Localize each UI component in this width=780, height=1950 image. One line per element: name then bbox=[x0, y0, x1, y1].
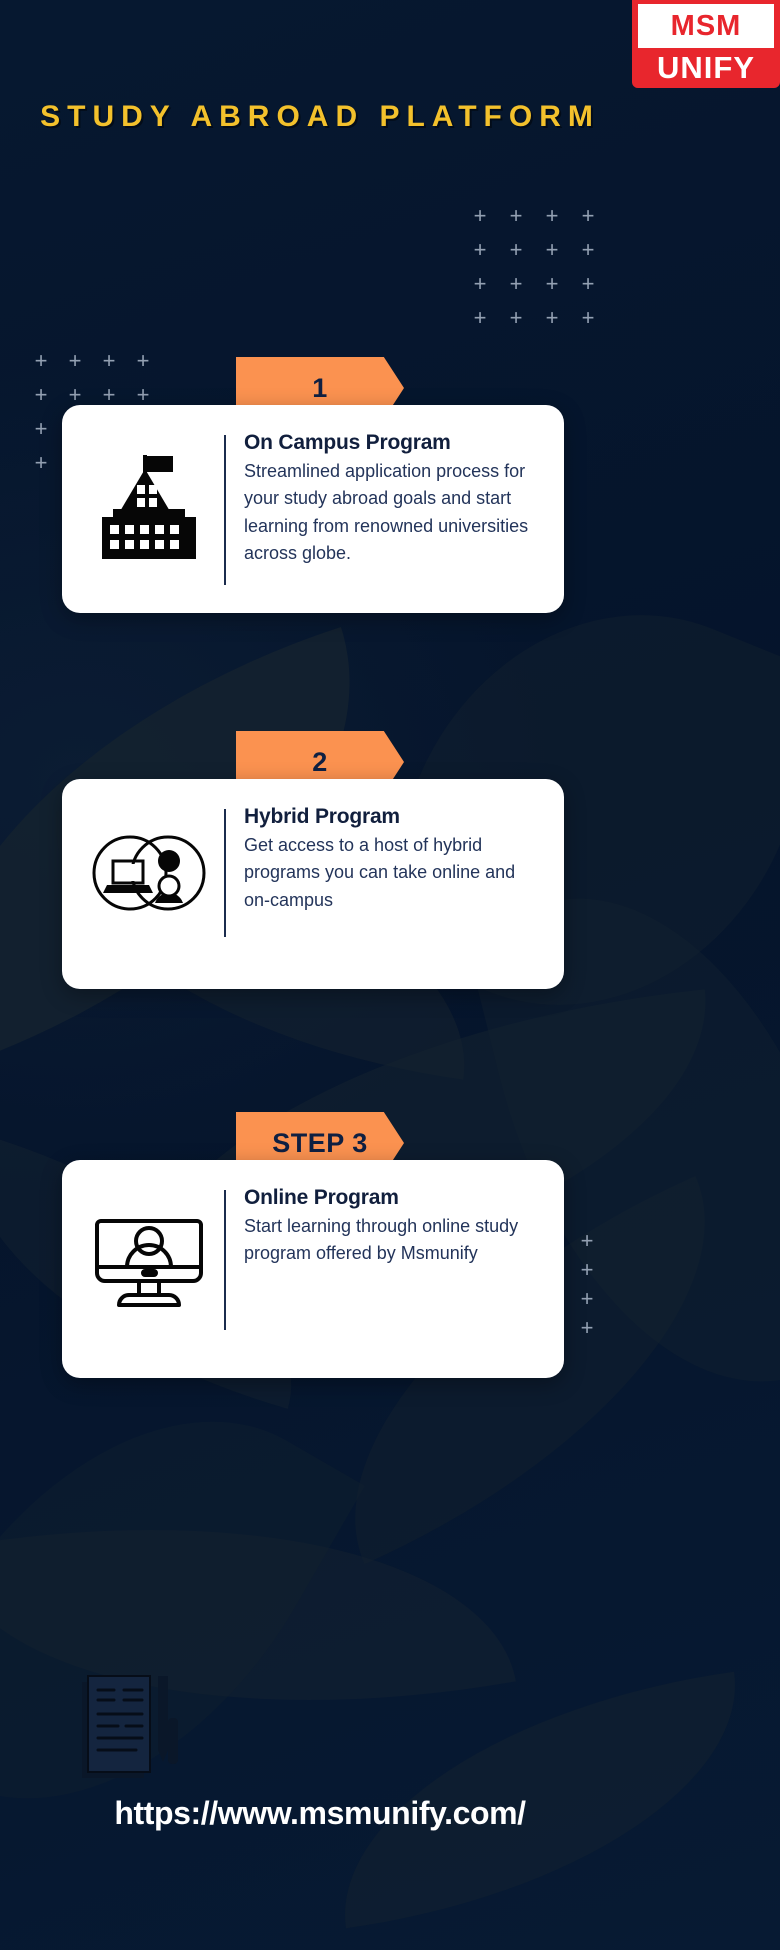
card-divider bbox=[224, 1190, 226, 1330]
plus-icon: + bbox=[570, 307, 606, 341]
msm-unify-logo[interactable]: MSM UNIFY bbox=[632, 0, 780, 88]
plus-icon: + bbox=[534, 307, 570, 341]
step-2-text: Hybrid Program Get access to a host of h… bbox=[244, 805, 542, 914]
step-card-2[interactable]: 2 Hybrid Program bbox=[62, 731, 564, 989]
step-1-description: Streamlined application process for your… bbox=[244, 458, 538, 567]
plus-icon: + bbox=[462, 205, 498, 239]
step-card-3-body: Online Program Start learning through on… bbox=[62, 1160, 564, 1378]
infographic-canvas: MSM UNIFY STUDY ABROAD PLATFORM + + + + … bbox=[0, 0, 780, 1950]
plus-icon: + bbox=[534, 239, 570, 273]
plus-icon: + bbox=[498, 307, 534, 341]
step-2-title: Hybrid Program bbox=[244, 805, 538, 829]
plus-icon: + bbox=[574, 1259, 600, 1288]
step-card-1-body: On Campus Program Streamlined applicatio… bbox=[62, 405, 564, 613]
step-3-description: Start learning through online study prog… bbox=[244, 1213, 538, 1268]
logo-unify-text: UNIFY bbox=[657, 48, 755, 88]
document-pen-icon bbox=[78, 1672, 188, 1795]
step-3-text: Online Program Start learning through on… bbox=[244, 1186, 542, 1268]
plus-icon: + bbox=[574, 1317, 600, 1346]
step-card-3[interactable]: STEP 3 Online Program Start learning thr… bbox=[62, 1112, 564, 1378]
plus-icon: + bbox=[498, 205, 534, 239]
plus-icon: + bbox=[462, 239, 498, 273]
plus-icon: + bbox=[462, 307, 498, 341]
plus-icon: + bbox=[24, 452, 58, 486]
plus-icon: + bbox=[574, 1230, 600, 1259]
step-card-2-body: Hybrid Program Get access to a host of h… bbox=[62, 779, 564, 989]
plus-icon: + bbox=[24, 350, 58, 384]
hybrid-venn-icon bbox=[74, 825, 224, 921]
plus-pattern-right-step3: + + + + bbox=[574, 1230, 600, 1346]
plus-icon: + bbox=[24, 384, 58, 418]
step-card-1[interactable]: 1 bbox=[62, 357, 564, 613]
step-1-title: On Campus Program bbox=[244, 431, 538, 455]
plus-icon: + bbox=[24, 418, 58, 452]
step-1-text: On Campus Program Streamlined applicatio… bbox=[244, 431, 542, 567]
page-title: STUDY ABROAD PLATFORM bbox=[0, 100, 640, 134]
website-url[interactable]: https://www.msmunify.com/ bbox=[0, 1795, 640, 1832]
step-2-description: Get access to a host of hybrid programs … bbox=[244, 832, 538, 914]
plus-icon: + bbox=[462, 273, 498, 307]
card-divider bbox=[224, 809, 226, 937]
logo-msm-text: MSM bbox=[638, 4, 774, 48]
plus-icon: + bbox=[498, 239, 534, 273]
plus-icon: + bbox=[570, 239, 606, 273]
plus-icon: + bbox=[570, 273, 606, 307]
plus-icon: + bbox=[498, 273, 534, 307]
plus-icon: + bbox=[570, 205, 606, 239]
plus-icon: + bbox=[534, 205, 570, 239]
step-3-title: Online Program bbox=[244, 1186, 538, 1210]
campus-building-icon bbox=[74, 451, 224, 569]
plus-icon: + bbox=[574, 1288, 600, 1317]
online-monitor-icon bbox=[74, 1207, 224, 1313]
plus-pattern-top-right: + + + + + + + + + + + + + + + + bbox=[462, 205, 606, 341]
plus-icon: + bbox=[534, 273, 570, 307]
card-divider bbox=[224, 435, 226, 585]
